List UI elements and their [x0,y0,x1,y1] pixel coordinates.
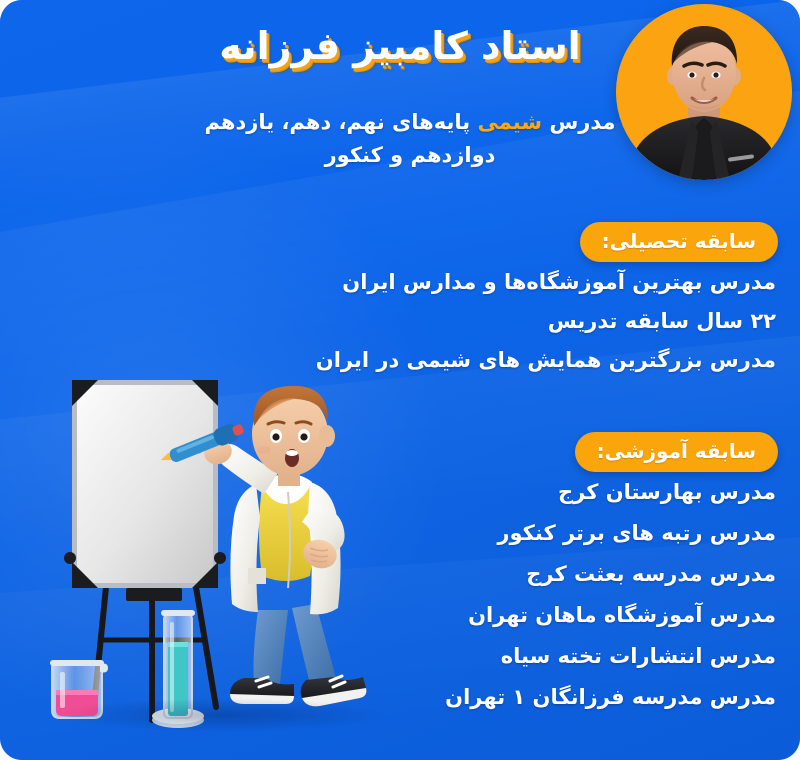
page-title: استاد کامبیز فرزانه [200,24,600,70]
subtitle-highlight-chemistry: شیمی [477,110,542,134]
teacher-illustration [48,372,388,732]
illustration-svg [48,372,388,732]
education-list: مدرس بهترین آموزشگاه‌ها و مدارس ایران ۲۲… [316,272,776,371]
whiteboard [64,380,226,601]
subtitle-part-1: مدرس [542,110,616,134]
section-badge-education: سابقه تحصیلی: [580,222,778,262]
subtitle-line-2: دوازدهم و کنکور [325,143,496,167]
floor-shadow [58,698,388,732]
poster-header: استاد کامبیز فرزانه مدرس شیمی پایه‌های ن… [0,0,800,195]
list-item: مدرس آموزشگاه ماهان تهران [445,605,776,626]
section-badge-teaching: سابقه آموزشی: [575,432,778,472]
list-item: مدرس رتبه های برتر کنکور [445,523,776,544]
list-item: مدرس انتشارات تخته سیاه [445,646,776,667]
subtitle-part-2: پایه‌های نهم، دهم، یازدهم [204,110,477,134]
list-item: مدرس بهترین آموزشگاه‌ها و مدارس ایران [316,272,776,293]
list-item: ۲۲ سال سابقه تدریس [316,311,776,332]
portrait-photo [616,4,792,180]
list-item: مدرس مدرسه فرزانگان ۱ تهران [445,687,776,708]
list-item: مدرس مدرسه بعثت کرج [445,564,776,585]
teaching-list: مدرس بهارستان کرج مدرس رتبه های برتر کنک… [445,482,776,728]
poster-subtitle: مدرس شیمی پایه‌های نهم، دهم، یازدهم دواز… [190,106,630,171]
list-item: مدرس بزرگترین همایش های شیمی در ایران [316,350,776,371]
list-item: مدرس بهارستان کرج [445,482,776,503]
poster-root: استاد کامبیز فرزانه مدرس شیمی پایه‌های ن… [0,0,800,760]
avatar [616,4,792,180]
